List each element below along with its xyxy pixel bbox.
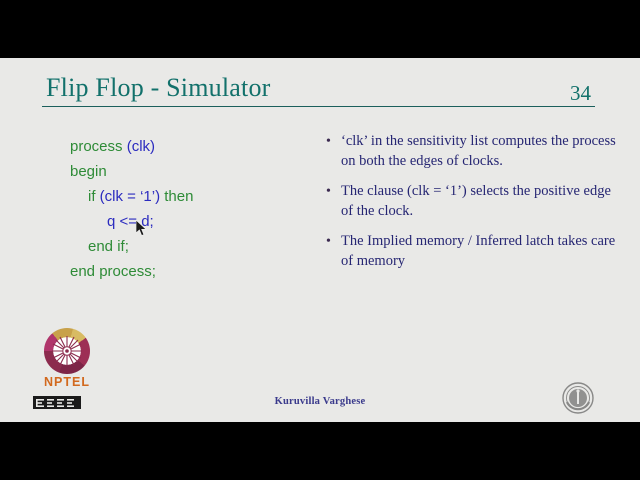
bullet-text: The Implied memory / Inferred latch take… <box>341 233 615 269</box>
bullet-dot-icon: • <box>326 232 331 252</box>
slide-canvas: Flip Flop - Simulator 34 process (clk)be… <box>0 58 640 422</box>
code-line: end if; <box>70 234 193 259</box>
bullet-item: •The Implied memory / Inferred latch tak… <box>322 232 617 271</box>
bullet-text: ‘clk’ in the sensitivity list computes t… <box>341 133 616 169</box>
code-token-keyword: if <box>88 188 100 205</box>
title-divider <box>42 106 595 107</box>
video-frame: Flip Flop - Simulator 34 process (clk)be… <box>0 0 640 480</box>
bullet-item: •The clause (clk = ‘1’) selects the posi… <box>322 182 617 221</box>
code-line: if (clk = ‘1’) then <box>70 184 193 209</box>
code-token-keyword: begin <box>70 163 107 180</box>
page-title: Flip Flop - Simulator <box>46 73 271 103</box>
code-token-keyword: process <box>70 138 127 155</box>
bullet-dot-icon: • <box>326 132 331 152</box>
mouse-cursor <box>136 220 148 238</box>
bullet-text: The clause (clk = ‘1’) selects the posit… <box>341 183 611 219</box>
code-line: process (clk) <box>70 134 193 159</box>
page-number: 34 <box>570 81 591 106</box>
nptel-wordmark: NPTEL <box>38 375 96 389</box>
title-row: Flip Flop - Simulator 34 <box>42 73 595 113</box>
footer-author-name: Kuruvilla Varghese <box>0 396 640 407</box>
code-line: q <= d; <box>70 209 193 234</box>
letterbox-top <box>0 0 640 58</box>
nptel-logo: NPTEL <box>38 328 96 396</box>
code-token-keyword: end process; <box>70 263 156 280</box>
bullet-list: •‘clk’ in the sensitivity list computes … <box>322 132 617 282</box>
code-token-keyword: end if; <box>88 238 129 255</box>
bullet-item: •‘clk’ in the sensitivity list computes … <box>322 132 617 171</box>
code-token-identifier: (clk) <box>127 138 155 155</box>
code-line: end process; <box>70 259 193 284</box>
vhdl-code-block: process (clk)beginif (clk = ‘1’) thenq <… <box>70 134 193 284</box>
code-line: begin <box>70 159 193 184</box>
code-token-identifier: (clk = ‘1’) <box>100 188 165 205</box>
bullet-dot-icon: • <box>326 182 331 202</box>
iisc-emblem-icon <box>560 380 596 416</box>
code-token-keyword: then <box>164 188 193 205</box>
nptel-starburst-icon <box>50 334 84 368</box>
letterbox-bottom <box>0 422 640 480</box>
